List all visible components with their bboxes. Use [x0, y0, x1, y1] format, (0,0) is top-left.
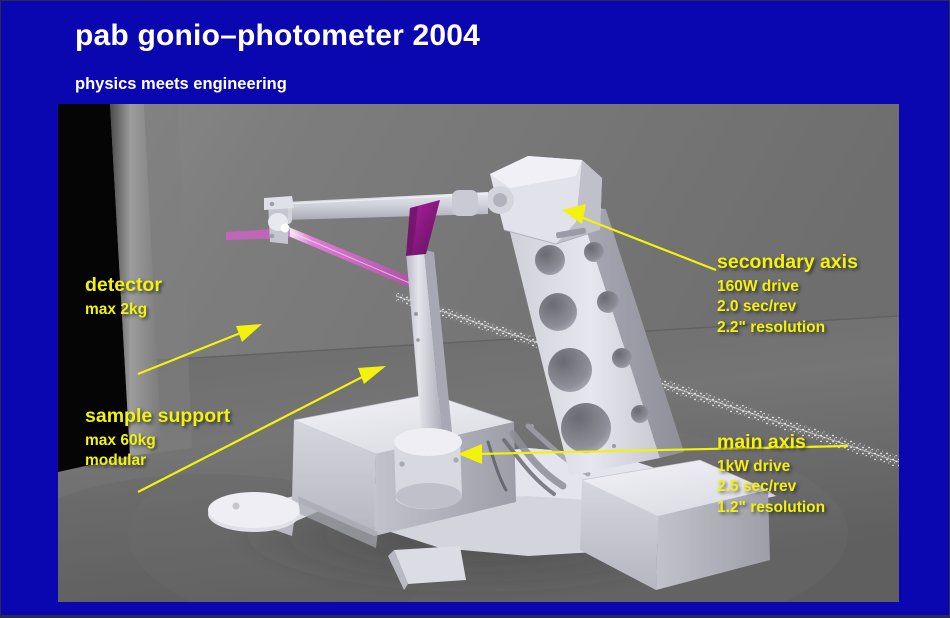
annotation-sample-support-title: sample support	[85, 407, 230, 427]
annotation-detector: detector max 2kg	[85, 276, 162, 322]
annotation-secondary-axis-line-2: 2.0 sec/rev	[717, 299, 858, 315]
annotation-main-axis-line-1: 1kW drive	[717, 459, 825, 475]
slide-subtitle: physics meets engineering	[75, 75, 287, 94]
slide-bottom-border	[1, 615, 950, 617]
annotation-main-axis-line-2: 2.5 sec/rev	[717, 479, 825, 495]
annotation-secondary-axis: secondary axis 160W drive 2.0 sec/rev 2.…	[717, 253, 858, 340]
annotation-sample-support: sample support max 60kg modular	[85, 407, 230, 474]
annotation-main-axis-title: main axis	[717, 433, 825, 453]
annotation-detector-line-1: max 2kg	[85, 302, 162, 318]
annotation-secondary-axis-line-3: 2.2" resolution	[717, 320, 858, 336]
page-title: pab gonio–photometer 2004	[75, 19, 480, 53]
annotation-detector-title: detector	[85, 276, 162, 296]
annotation-secondary-axis-title: secondary axis	[717, 253, 858, 273]
sample-base-top	[394, 428, 462, 456]
annotation-secondary-axis-line-1: 160W drive	[717, 279, 858, 295]
annotation-sample-support-line-2: modular	[85, 453, 230, 469]
annotation-main-axis-line-3: 1.2" resolution	[717, 500, 825, 516]
instrument-photo	[58, 104, 899, 602]
instrument-scene	[58, 104, 899, 602]
annotation-sample-support-line-1: max 60kg	[85, 433, 230, 449]
presentation-slide: pab gonio–photometer 2004 physics meets …	[0, 0, 950, 618]
annotation-main-axis: main axis 1kW drive 2.5 sec/rev 1.2" res…	[717, 433, 825, 520]
